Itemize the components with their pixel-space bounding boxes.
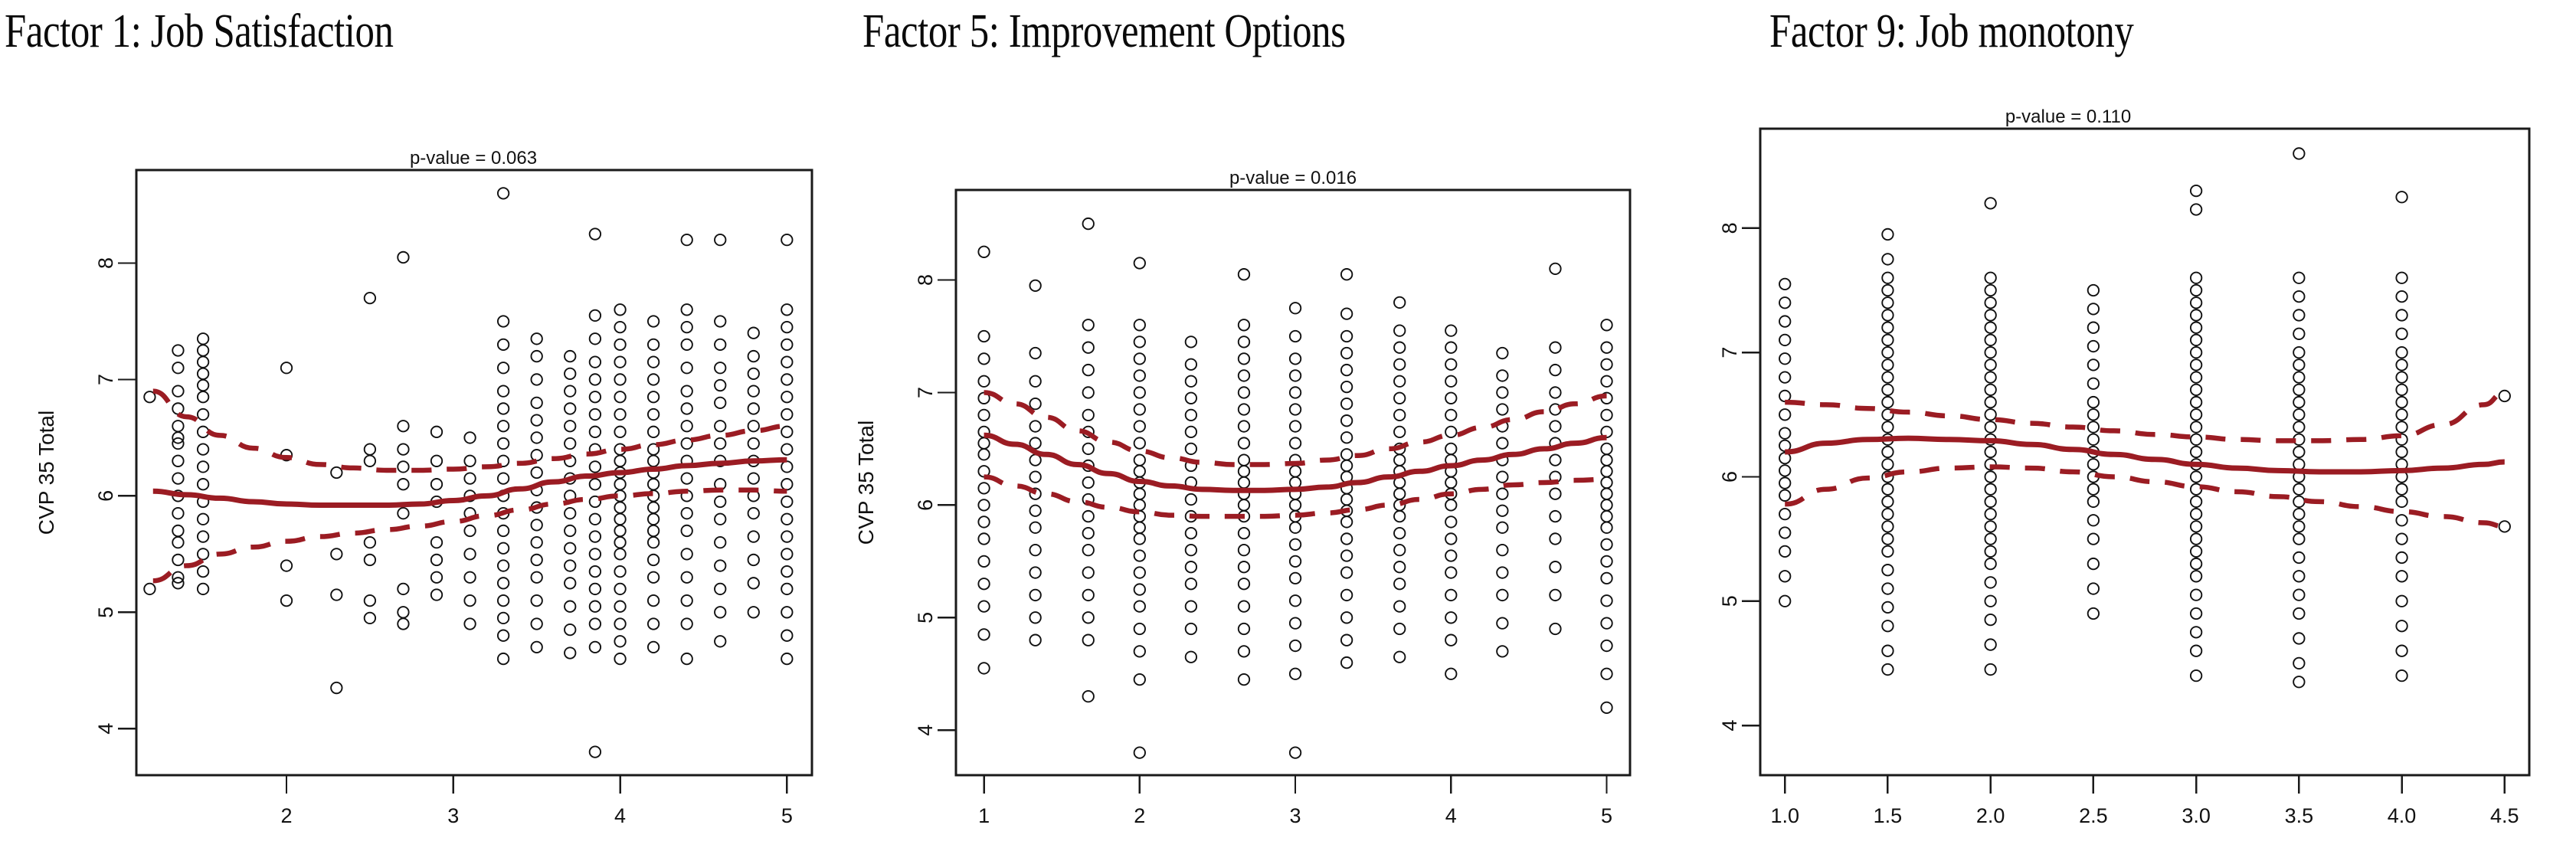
svg-text:1.0: 1.0 [1770, 804, 1799, 827]
svg-text:2: 2 [1134, 804, 1145, 827]
svg-text:4: 4 [914, 725, 937, 736]
svg-text:p-value = 0.063: p-value = 0.063 [410, 148, 537, 169]
svg-text:4.5: 4.5 [2490, 804, 2519, 827]
svg-text:7: 7 [94, 374, 117, 385]
svg-text:6: 6 [94, 490, 117, 502]
svg-text:4.0: 4.0 [2388, 804, 2417, 827]
panel-2-plot: 1234545678CVP 35 Totalp-value = 0.016 [858, 0, 1716, 851]
panel-1-plot: 234545678CVP 35 Totalp-value = 0.063 [0, 0, 858, 851]
panel-factor-9: Factor 9: Job monotony 1.01.52.02.53.03.… [1716, 0, 2576, 851]
svg-text:8: 8 [1718, 222, 1741, 234]
svg-text:8: 8 [914, 274, 937, 286]
svg-text:8: 8 [94, 257, 117, 269]
svg-text:5: 5 [1601, 804, 1612, 827]
panel-3-plot: 1.01.52.02.53.03.54.04.545678CVP 35 Tota… [1716, 0, 2576, 851]
figure-root: Factor 1: Job Satisfaction 234545678CVP … [0, 0, 2576, 851]
svg-text:6: 6 [1718, 471, 1741, 483]
svg-text:5: 5 [1718, 595, 1741, 607]
svg-text:4: 4 [1718, 720, 1741, 732]
svg-text:3: 3 [447, 804, 459, 827]
svg-text:p-value = 0.016: p-value = 0.016 [1229, 168, 1357, 188]
panel-factor-5: Factor 5: Improvement Options 1234545678… [858, 0, 1716, 851]
svg-text:6: 6 [914, 499, 937, 511]
svg-text:2.5: 2.5 [2079, 804, 2108, 827]
svg-text:5: 5 [914, 612, 937, 624]
svg-text:4: 4 [614, 804, 626, 827]
svg-text:CVP 35 Total: CVP 35 Total [858, 421, 878, 545]
svg-text:4: 4 [94, 723, 117, 735]
svg-text:1: 1 [978, 804, 990, 827]
svg-text:4: 4 [1445, 804, 1457, 827]
svg-text:7: 7 [914, 387, 937, 398]
svg-text:1.5: 1.5 [1874, 804, 1903, 827]
svg-text:CVP 35 Total: CVP 35 Total [34, 411, 58, 535]
svg-text:3.5: 3.5 [2285, 804, 2314, 827]
svg-text:2: 2 [280, 804, 292, 827]
svg-text:5: 5 [781, 804, 793, 827]
panel-factor-1: Factor 1: Job Satisfaction 234545678CVP … [0, 0, 858, 851]
svg-text:3.0: 3.0 [2182, 804, 2211, 827]
svg-text:3: 3 [1290, 804, 1301, 827]
svg-text:2.0: 2.0 [1976, 804, 2005, 827]
svg-text:5: 5 [94, 607, 117, 618]
svg-text:7: 7 [1718, 347, 1741, 358]
svg-text:p-value = 0.110: p-value = 0.110 [2005, 106, 2131, 127]
